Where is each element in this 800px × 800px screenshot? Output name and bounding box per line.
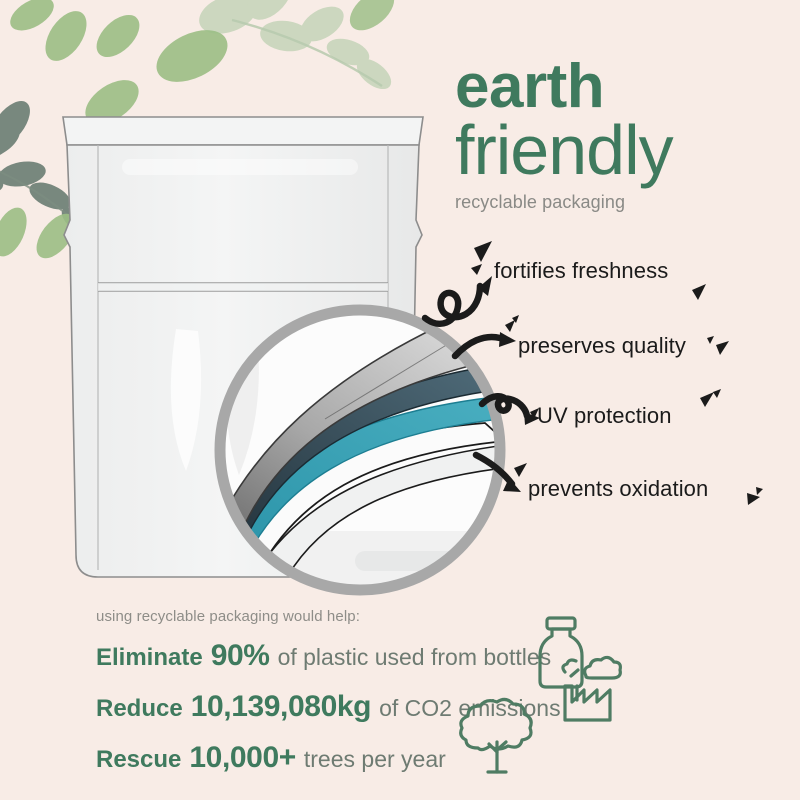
infographic-poster: earth friendly recyclable packaging fort… bbox=[0, 0, 800, 800]
headline-line-2: friendly bbox=[455, 115, 775, 186]
stat-verb: Eliminate bbox=[96, 644, 203, 672]
stat-verb: Rescue bbox=[96, 746, 181, 774]
stat-row-rescue: Rescue 10,000+ trees per year bbox=[96, 741, 716, 775]
stat-value: 10,139,080kg bbox=[191, 690, 371, 724]
feature-label-preserves-quality: preserves quality bbox=[518, 333, 686, 359]
stats-block: using recyclable packaging would help: E… bbox=[96, 608, 716, 792]
stat-row-reduce: Reduce 10,139,080kg of CO2 emissions bbox=[96, 690, 716, 724]
stat-verb: Reduce bbox=[96, 695, 183, 723]
feature-label-fortifies-freshness: fortifies freshness bbox=[494, 258, 668, 284]
stats-intro: using recyclable packaging would help: bbox=[96, 608, 716, 625]
stat-rest: trees per year bbox=[304, 746, 446, 773]
stat-row-eliminate: Eliminate 90% of plastic used from bottl… bbox=[96, 639, 716, 673]
headline-line-1: earth bbox=[455, 58, 775, 117]
stat-value: 10,000+ bbox=[189, 741, 295, 775]
stat-rest: of CO2 emissions bbox=[379, 695, 561, 722]
stat-value: 90% bbox=[211, 639, 270, 673]
headline-block: earth friendly recyclable packaging bbox=[455, 58, 775, 213]
feature-label-prevents-oxidation: prevents oxidation bbox=[528, 476, 708, 502]
headline-subtitle: recyclable packaging bbox=[455, 192, 775, 213]
magnifier-film-layers bbox=[205, 295, 515, 605]
stat-rest: of plastic used from bottles bbox=[278, 644, 552, 671]
feature-label-uv-protection: UV protection bbox=[537, 403, 672, 429]
